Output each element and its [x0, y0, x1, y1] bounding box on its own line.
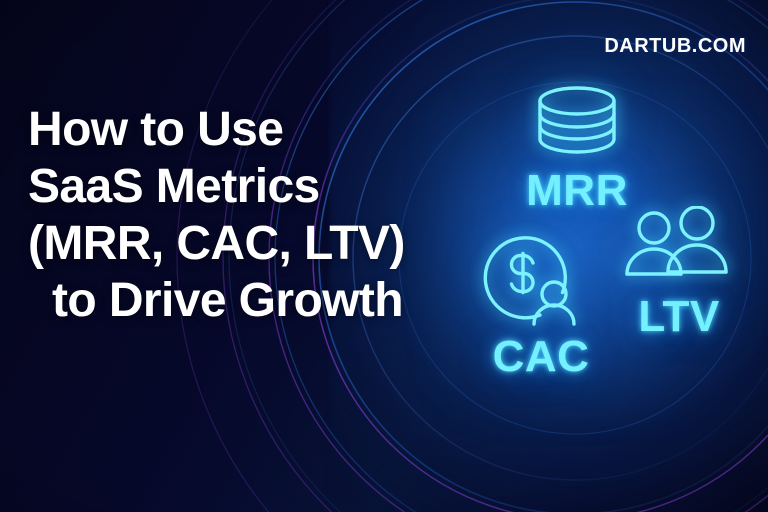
headline-line-4: to Drive Growth: [28, 272, 428, 329]
headline-title: How to Use SaaS Metrics (MRR, CAC, LTV) …: [28, 101, 428, 329]
headline-line-3: (MRR, CAC, LTV): [28, 215, 428, 272]
headline-line-2: SaaS Metrics: [28, 158, 428, 215]
headline-line-1: How to Use: [28, 101, 428, 158]
site-watermark: DARTUB.COM: [604, 35, 746, 58]
background-inner-glow: [430, 100, 750, 420]
thumbnail-canvas: DARTUB.COM How to Use SaaS Metrics (MRR,…: [0, 0, 768, 512]
